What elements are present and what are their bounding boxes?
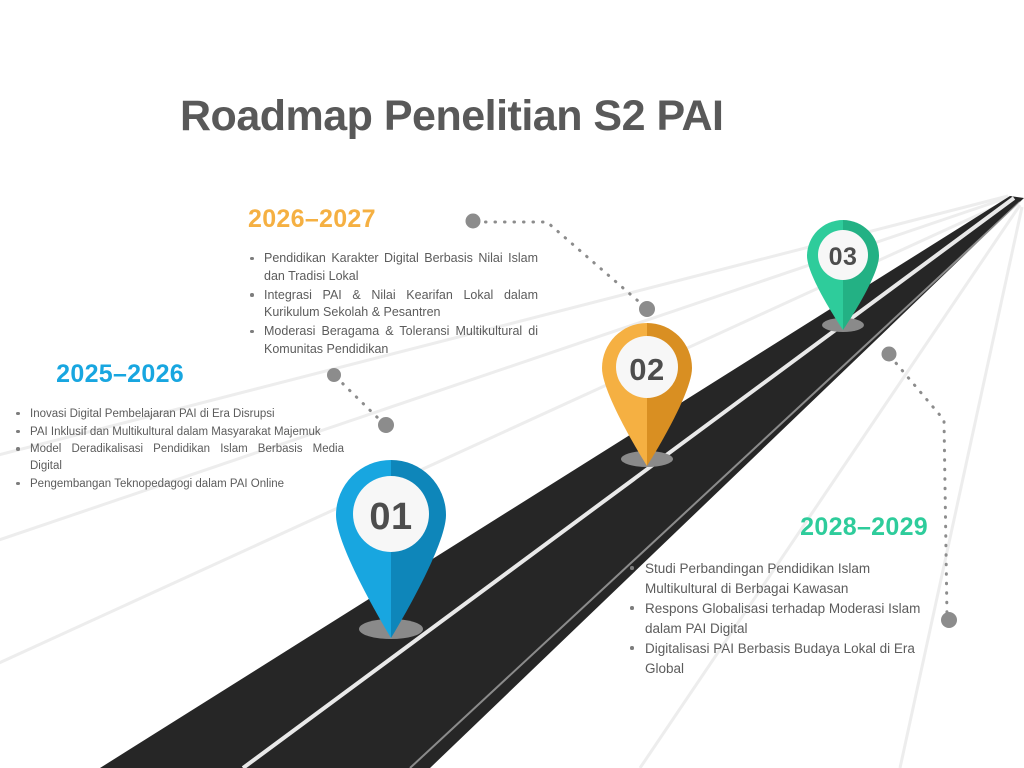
list-item: Pengembangan Teknopedagogi dalam PAI Onl… <box>14 476 344 493</box>
milestone-year-phase-3: 2028–2029 <box>628 513 936 542</box>
list-item: PAI Inklusif dan Multikultural dalam Mas… <box>14 424 344 441</box>
milestone-bullets-phase-3: Studi Perbandingan Pendidikan Islam Mult… <box>628 559 936 678</box>
milestone-bullets-phase-2: Pendidikan Karakter Digital Berbasis Nil… <box>248 250 538 359</box>
connector-dot-phase-3-start <box>882 347 897 362</box>
list-item: Digitalisasi PAI Berbasis Budaya Lokal d… <box>628 639 936 678</box>
list-item: Moderasi Beragama & Toleransi Multikultu… <box>248 323 538 359</box>
list-item: Pendidikan Karakter Digital Berbasis Nil… <box>248 250 538 286</box>
milestone-year-phase-2: 2026–2027 <box>248 205 538 234</box>
milestone-block-phase-1: 2025–2026 Inovasi Digital Pembelajaran P… <box>14 360 344 493</box>
milestone-bullets-phase-1: Inovasi Digital Pembelajaran PAI di Era … <box>14 406 344 492</box>
list-item: Studi Perbandingan Pendidikan Islam Mult… <box>628 559 936 598</box>
pin-number-phase-2: 02 <box>597 352 697 388</box>
map-pin-phase-1[interactable]: 01 <box>330 452 452 640</box>
list-item: Inovasi Digital Pembelajaran PAI di Era … <box>14 406 344 423</box>
connector-dot-phase-1-end <box>378 417 394 433</box>
milestone-block-phase-2: 2026–2027 Pendidikan Karakter Digital Be… <box>248 205 538 360</box>
pin-number-phase-1: 01 <box>330 496 452 539</box>
list-item: Respons Globalisasi terhadap Moderasi Is… <box>628 599 936 638</box>
connector-dot-phase-3-end <box>941 612 957 628</box>
pin-number-phase-3: 03 <box>803 243 883 272</box>
milestone-block-phase-3: 2028–2029 Studi Perbandingan Pendidikan … <box>628 513 936 679</box>
map-pin-phase-2[interactable]: 02 <box>597 318 697 468</box>
roadmap-infographic: Roadmap Penelitian S2 PAI 2026–2027 Pend… <box>0 0 1024 768</box>
map-pin-phase-3[interactable]: 03 <box>803 217 883 332</box>
list-item: Integrasi PAI & Nilai Kearifan Lokal dal… <box>248 287 538 323</box>
list-item: Model Deradikalisasi Pendidikan Islam Be… <box>14 441 344 474</box>
connector-dot-phase-2-end <box>639 301 655 317</box>
milestone-year-phase-1: 2025–2026 <box>14 360 344 389</box>
page-title: Roadmap Penelitian S2 PAI <box>180 92 723 141</box>
